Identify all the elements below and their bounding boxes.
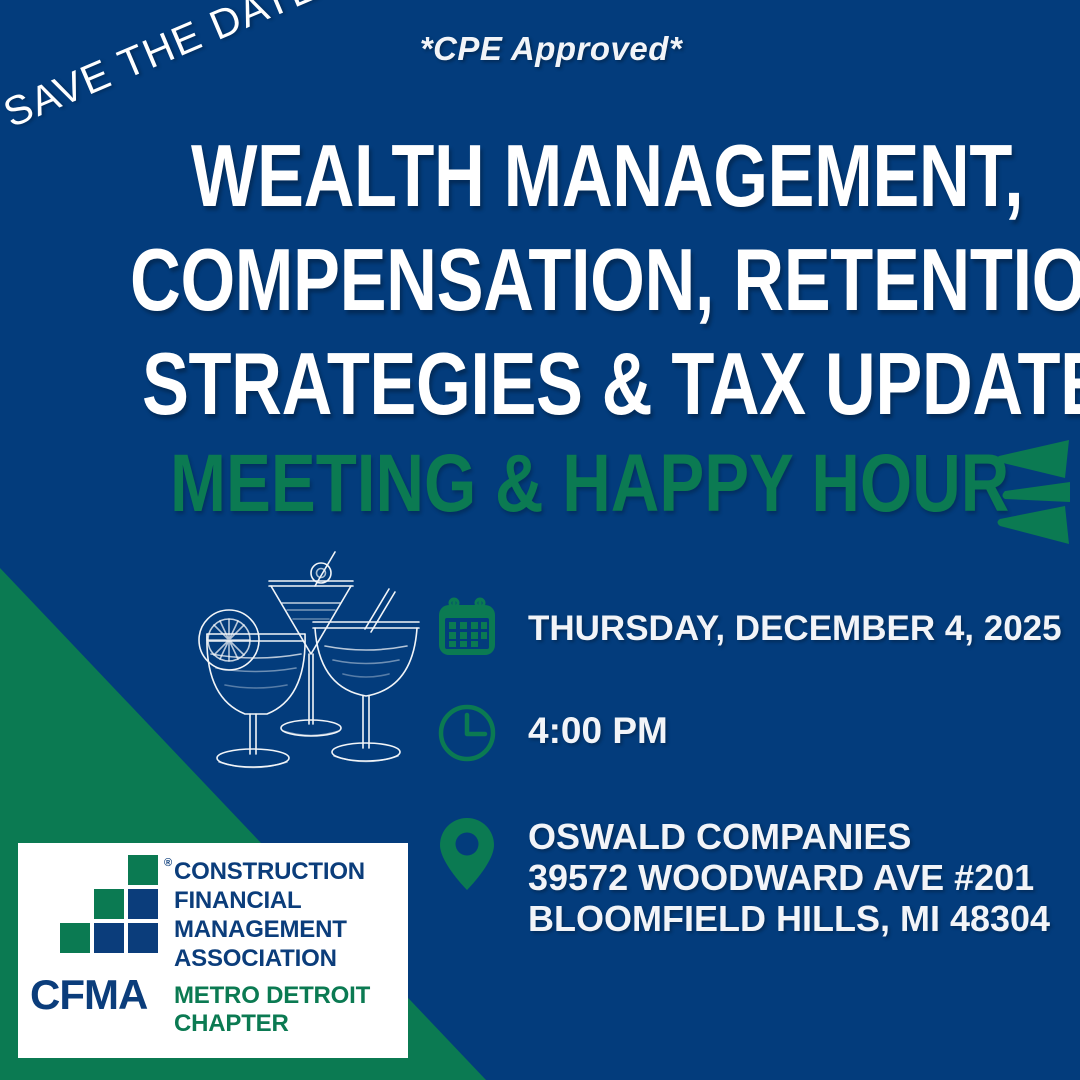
address-line-2: BLOOMFIELD HILLS, MI 48304 bbox=[528, 898, 1050, 939]
calendar-icon bbox=[436, 596, 528, 658]
map-pin-icon bbox=[436, 816, 528, 892]
clock-icon bbox=[436, 702, 528, 764]
registered-trademark-mark: ® bbox=[164, 857, 172, 869]
event-location: OSWALD COMPANIES 39572 WOODWARD AVE #201… bbox=[528, 816, 1050, 939]
logo-name-line-1: CONSTRUCTION bbox=[174, 857, 402, 886]
logo-chapter-line-1: METRO DETROIT bbox=[174, 982, 402, 1010]
logo-square-navy-1 bbox=[128, 889, 158, 919]
cfma-square-grid: ® bbox=[60, 855, 168, 955]
title-line-3: STRATEGIES & TAX UPDATE bbox=[142, 332, 879, 436]
detail-row-date: THURSDAY, DECEMBER 4, 2025 bbox=[436, 596, 1066, 658]
cfma-logo: ® CFMA CONSTRUCTION FINANCIAL MANAGEMENT… bbox=[18, 843, 408, 1058]
title-line-1: WEALTH MANAGEMENT, bbox=[191, 124, 889, 228]
cocktail-glasses-illustration bbox=[183, 548, 423, 780]
logo-square-green-1 bbox=[128, 855, 158, 885]
event-date: THURSDAY, DECEMBER 4, 2025 bbox=[528, 596, 1062, 650]
logo-square-green-2 bbox=[94, 889, 124, 919]
logo-name-line-3: MANAGEMENT bbox=[174, 915, 402, 944]
address-line-1: 39572 WOODWARD AVE #201 bbox=[528, 857, 1050, 898]
logo-chapter-line-2: CHAPTER bbox=[174, 1010, 402, 1038]
subtitle: MEETING & HAPPY HOUR bbox=[170, 438, 902, 530]
venue-name: OSWALD COMPANIES bbox=[528, 816, 1050, 857]
cfma-acronym: CFMA bbox=[30, 974, 147, 1016]
logo-name-line-4: ASSOCIATION bbox=[174, 944, 402, 973]
subtitle-row: MEETING & HAPPY HOUR bbox=[128, 438, 1063, 538]
event-time: 4:00 PM bbox=[528, 702, 668, 752]
three-ray-burst-icon bbox=[991, 436, 1071, 546]
logo-square-green-3 bbox=[60, 923, 90, 953]
logo-square-navy-3 bbox=[128, 923, 158, 953]
logo-square-navy-2 bbox=[94, 923, 124, 953]
event-details: THURSDAY, DECEMBER 4, 2025 4:00 PM OSWAL… bbox=[436, 596, 1066, 975]
cpe-approved-note: *CPE Approved* bbox=[416, 30, 686, 68]
detail-row-location: OSWALD COMPANIES 39572 WOODWARD AVE #201… bbox=[436, 816, 1066, 939]
detail-row-time: 4:00 PM bbox=[436, 702, 1066, 764]
cfma-logo-text: CONSTRUCTION FINANCIAL MANAGEMENT ASSOCI… bbox=[170, 843, 408, 1038]
page-title: WEALTH MANAGEMENT, COMPENSATION, RETENTI… bbox=[128, 124, 1063, 436]
event-flyer: SAVE THE DATE! *CPE Approved* WEALTH MAN… bbox=[0, 0, 1080, 1080]
title-line-2: COMPENSATION, RETENTION bbox=[130, 228, 876, 332]
save-the-date-banner: SAVE THE DATE! bbox=[0, 0, 337, 137]
cfma-logo-mark: ® CFMA bbox=[18, 843, 170, 1058]
logo-name-line-2: FINANCIAL bbox=[174, 886, 402, 915]
